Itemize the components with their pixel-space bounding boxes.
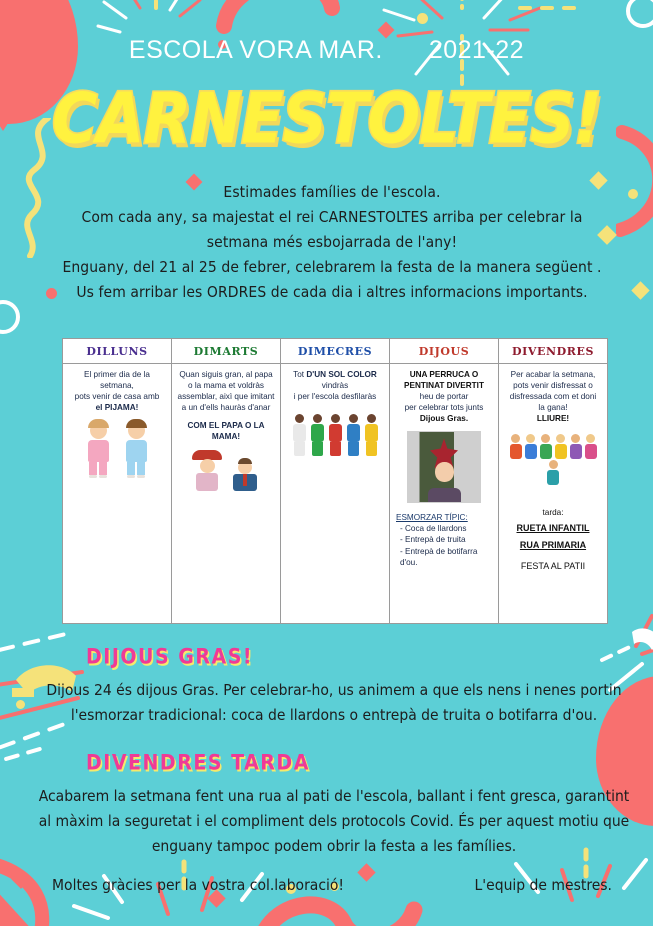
colour-squad-illustration (285, 414, 385, 456)
table-column-dimarts: DIMARTS Quan siguis gran, al papa o la m… (172, 339, 281, 623)
figure-red (327, 414, 343, 456)
tarda-item: RUA PRIMARIA (503, 539, 603, 551)
businessman-suit (233, 474, 257, 491)
dimecres-line: Tot D'UN SOL COLOR (285, 369, 385, 380)
column-header-dimecres: DIMECRES (281, 339, 389, 364)
child-head (128, 422, 145, 439)
child-feet (121, 475, 151, 478)
intro-line-3: Enguany, del 21 al 25 de febrer, celebra… (52, 255, 612, 305)
column-body-dilluns: El primer dia de la setmana, pots venir … (63, 364, 171, 623)
column-body-dijous: UNA PERRUCA O PENTINAT DIVERTIT heu de p… (390, 364, 498, 623)
tarda-label: tarda: (503, 507, 603, 518)
detective-figure (190, 450, 224, 491)
costume-child (509, 434, 523, 459)
child-pink-pyjama (83, 422, 113, 478)
child-top (126, 440, 147, 462)
week-table: DILLUNS El primer dia de la setmana, pot… (62, 338, 608, 624)
divendres-text: Per acabar la setmana, pots venir disfre… (503, 369, 603, 413)
school-name: ESCOLA VORA MAR. (129, 36, 383, 64)
child-top (88, 440, 109, 462)
section-body-dijous-gras: Dijous 24 és dijous Gras. Per celebrar-h… (34, 678, 634, 728)
dimecres-text-post: vindràs i per l'escola desfilaràs (285, 380, 385, 402)
table-column-divendres: DIVENDRES Per acabar la setmana, pots ve… (499, 339, 607, 623)
column-body-divendres: Per acabar la setmana, pots venir disfre… (499, 364, 607, 623)
dilluns-bold: el PIJAMA! (67, 402, 167, 413)
child-legs (121, 462, 151, 475)
figure-white (291, 414, 307, 456)
school-header: ESCOLA VORA MAR.2021-22 (0, 36, 653, 65)
festa-al-pati: FESTA AL PATII (503, 560, 603, 572)
costume-child (569, 434, 583, 459)
column-header-dilluns: DILLUNS (63, 339, 171, 364)
hair-icon (88, 419, 109, 428)
figure-blue (345, 414, 361, 456)
dijous-bold-2: Dijous Gras. (394, 413, 494, 424)
child-legs (83, 462, 113, 475)
footer: Moltes gràcies per la vostra col.laborac… (52, 876, 612, 894)
pyjama-children-illustration (67, 422, 167, 478)
intro-text: Estimades famílies de l'escola. Com cada… (52, 180, 612, 306)
tarda-item: RUETA INFANTIL (503, 522, 603, 534)
figure-yellow (363, 414, 379, 456)
page-title: CARNESTOLTES! (0, 84, 653, 153)
esmorzar-item: - Coca de llardons (396, 523, 494, 534)
footer-signature: L'equip de mestres. (475, 876, 612, 894)
dimarts-bold: COM EL PAPA O LA MAMA! (176, 420, 276, 442)
intro-line-1: Estimades famílies de l'escola. (52, 180, 612, 205)
table-column-dijous: DIJOUS UNA PERRUCA O PENTINAT DIVERTIT h… (390, 339, 499, 623)
footer-thanks: Moltes gràcies per la vostra col.laborac… (52, 876, 344, 894)
column-body-dimecres: Tot D'UN SOL COLOR vindràs i per l'escol… (281, 364, 389, 623)
confetti-dot-3 (417, 13, 428, 24)
hair-icon (126, 419, 147, 428)
detective-face (200, 459, 215, 473)
confetti-dot-4 (628, 189, 638, 199)
detective-businessman-illustration (176, 450, 276, 491)
dijous-bold-1: UNA PERRUCA O PENTINAT DIVERTIT (394, 369, 494, 391)
column-header-divendres: DIVENDRES (499, 339, 607, 364)
dilluns-text: El primer dia de la setmana, pots venir … (67, 369, 167, 402)
confetti-ring-top-right (626, 0, 653, 28)
table-column-dilluns: DILLUNS El primer dia de la setmana, pot… (63, 339, 172, 623)
child-blue-pyjama (121, 422, 151, 478)
dashed-line-top-3 (562, 6, 576, 10)
table-column-dimecres: DIMECRES Tot D'UN SOL COLOR vindràs i pe… (281, 339, 390, 623)
child-head (90, 422, 107, 439)
costume-child (546, 460, 560, 485)
divendres-bold: LLIURE! (503, 413, 603, 424)
costume-children-illustration (503, 434, 603, 485)
column-header-dijous: DIJOUS (390, 339, 498, 364)
confetti-ring-left (0, 300, 20, 334)
confetti-dot-7 (16, 700, 25, 709)
dashed-line-top-2 (540, 6, 554, 10)
dijous-text: heu de portar per celebrar tots junts (394, 391, 494, 413)
carnival-poster: ESCOLA VORA MAR.2021-22 CARNESTOLTES! Es… (0, 0, 653, 926)
boy-face (435, 462, 454, 482)
esmorzar-item: - Entrepà de botifarra d'ou. (396, 546, 494, 568)
column-body-dimarts: Quan siguis gran, al papa o la mama et v… (172, 364, 280, 623)
businessman-face (238, 461, 252, 474)
pink-swirl-top (216, 0, 356, 34)
column-header-dimarts: DIMARTS (172, 339, 280, 364)
detective-coat (196, 473, 218, 491)
child-feet (83, 475, 113, 478)
section-heading-divendres-tarda: DIVENDRES TARDA (86, 751, 310, 775)
costume-child (554, 434, 568, 459)
dimecres-bold: D'UN SOL COLOR (306, 370, 376, 379)
businessman-figure (228, 461, 262, 491)
wig-boy-photo (407, 431, 481, 503)
section-body-divendres-tarda: Acabarem la setmana fent una rua al pati… (34, 784, 634, 859)
dimecres-text-pre: Tot (293, 370, 306, 379)
confetti-diamond-4 (631, 281, 649, 299)
confetti-diamond-5 (11, 869, 31, 889)
costume-child (584, 434, 598, 459)
figure-green (309, 414, 325, 456)
dashed-line-top (518, 6, 532, 10)
section-heading-dijous-gras: DIJOUS GRAS! (86, 645, 253, 669)
costume-child (539, 434, 553, 459)
esmorzar-title: ESMORZAR TÍPIC: (396, 512, 494, 523)
school-year: 2021-22 (429, 36, 524, 64)
costume-child (524, 434, 538, 459)
esmorzar-item: - Entrepà de truita (396, 534, 494, 545)
boy-shirt (428, 488, 461, 502)
intro-line-2: Com cada any, sa majestat el rei CARNEST… (52, 205, 612, 255)
dimarts-text: Quan siguis gran, al papa o la mama et v… (176, 369, 276, 413)
